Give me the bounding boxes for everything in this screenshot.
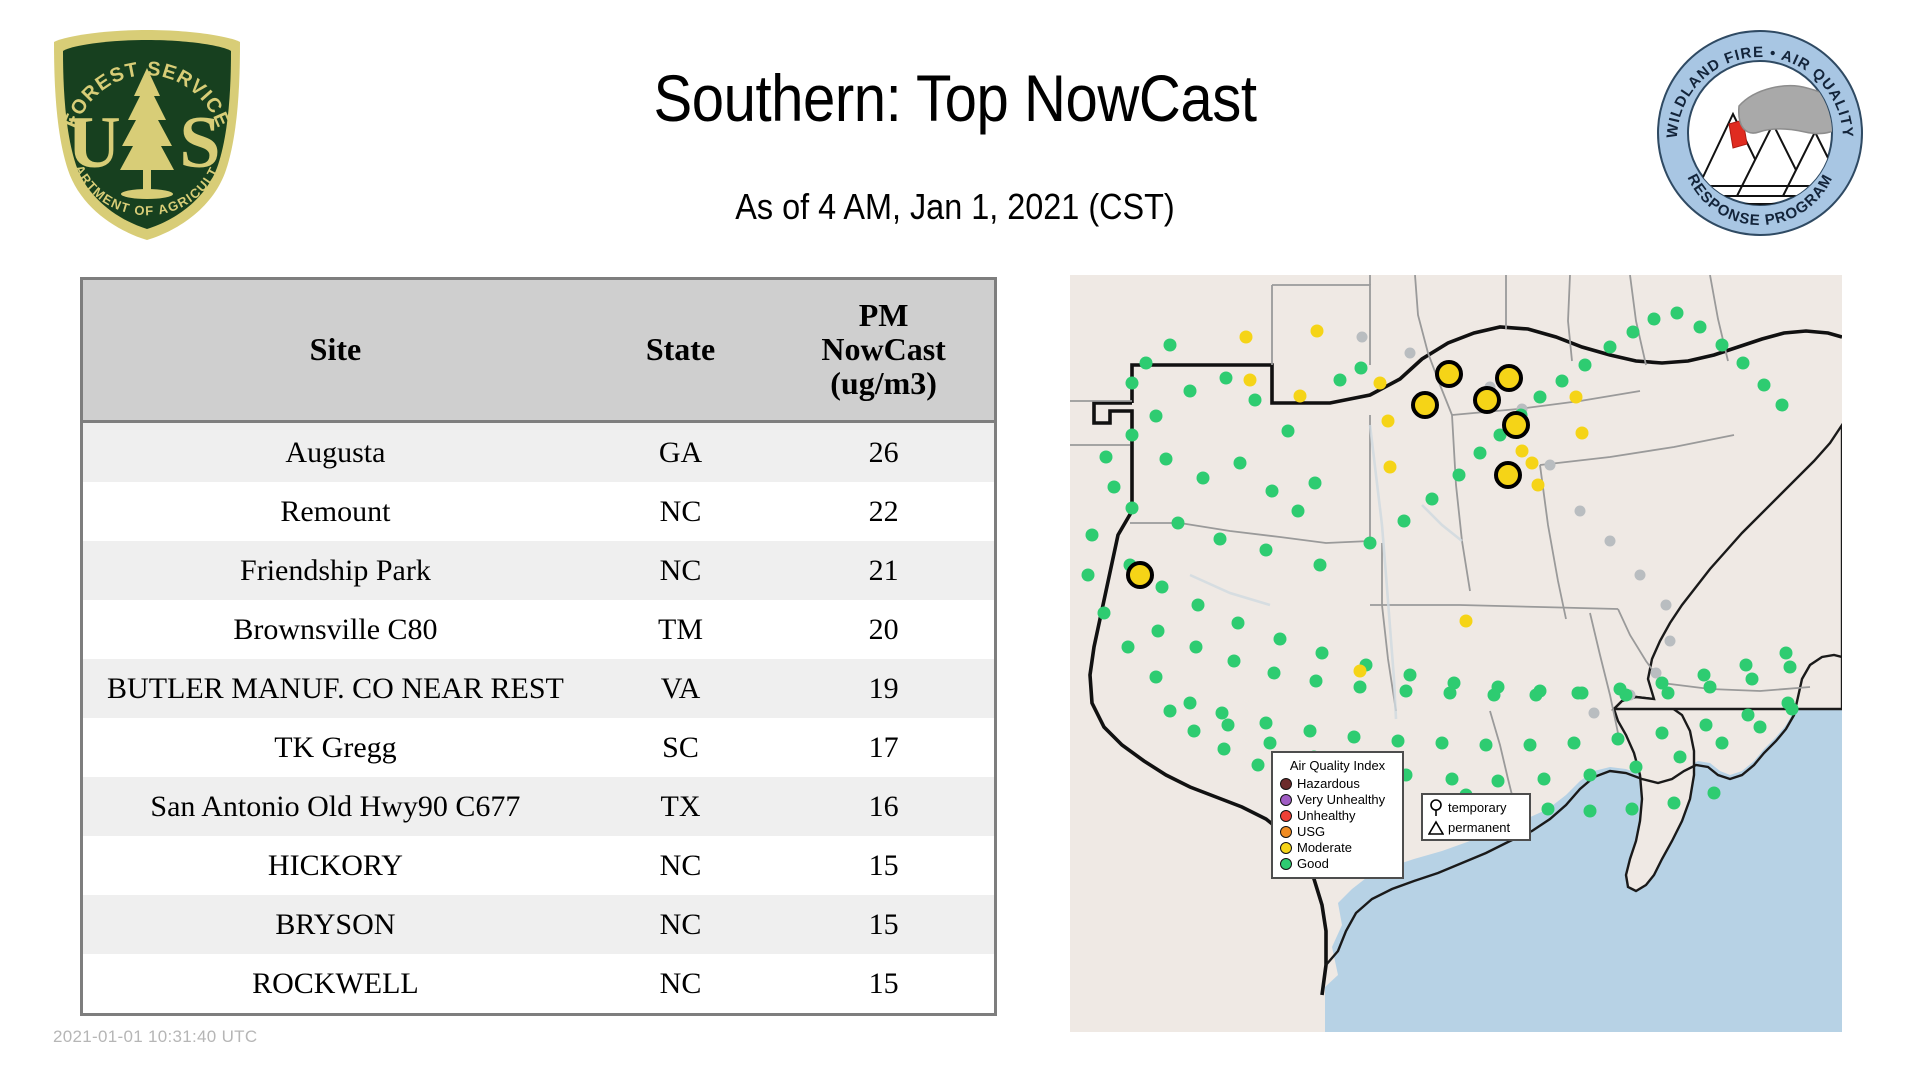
aqi-legend-row: USG [1280, 824, 1395, 840]
air-quality-map[interactable]: Air Quality Index HazardousVery Unhealth… [1070, 275, 1842, 1032]
good-aqi-marker[interactable] [1184, 385, 1197, 398]
monitor-type-legend: temporary permanent [1421, 793, 1531, 841]
good-aqi-marker[interactable] [1228, 655, 1241, 668]
good-aqi-marker[interactable] [1126, 502, 1139, 515]
offline-monitor-marker[interactable] [1651, 668, 1662, 679]
cell-pm-nowcast: 19 [773, 659, 994, 718]
good-aqi-marker[interactable] [1737, 357, 1750, 370]
top-site-marker[interactable] [1504, 413, 1528, 437]
good-aqi-marker[interactable] [1740, 659, 1753, 672]
cell-state: NC [588, 482, 773, 541]
cell-site: San Antonio Old Hwy90 C677 [83, 777, 588, 836]
good-aqi-marker[interactable] [1392, 735, 1405, 748]
table-row: TK GreggSC17 [83, 718, 994, 777]
good-aqi-marker[interactable] [1604, 341, 1617, 354]
good-aqi-marker[interactable] [1249, 394, 1262, 407]
cell-state: NC [588, 836, 773, 895]
good-aqi-marker[interactable] [1716, 339, 1729, 352]
good-aqi-marker[interactable] [1190, 641, 1203, 654]
table-row: AugustaGA26 [83, 422, 994, 483]
good-aqi-marker[interactable] [1220, 372, 1233, 385]
table-row: ROCKWELLNC15 [83, 954, 994, 1013]
good-aqi-marker[interactable] [1404, 669, 1417, 682]
good-aqi-marker[interactable] [1334, 374, 1347, 387]
aqi-legend-label: Very Unhealthy [1297, 792, 1385, 808]
good-aqi-marker[interactable] [1612, 733, 1625, 746]
offline-monitor-marker[interactable] [1545, 460, 1556, 471]
aqi-swatch-icon [1280, 858, 1292, 870]
good-aqi-marker[interactable] [1742, 709, 1755, 722]
aqi-swatch-icon [1280, 778, 1292, 790]
good-aqi-marker[interactable] [1626, 803, 1639, 816]
good-aqi-marker[interactable] [1700, 719, 1713, 732]
cell-pm-nowcast: 17 [773, 718, 994, 777]
good-aqi-marker[interactable] [1197, 472, 1210, 485]
cell-pm-nowcast: 16 [773, 777, 994, 836]
good-aqi-marker[interactable] [1216, 707, 1229, 720]
good-aqi-marker[interactable] [1122, 641, 1135, 654]
aqi-legend-row: Unhealthy [1280, 808, 1395, 824]
cell-pm-nowcast: 15 [773, 954, 994, 1013]
good-aqi-marker[interactable] [1126, 429, 1139, 442]
cell-pm-nowcast: 21 [773, 541, 994, 600]
good-aqi-marker[interactable] [1694, 321, 1707, 334]
good-aqi-marker[interactable] [1758, 379, 1771, 392]
good-aqi-marker[interactable] [1453, 469, 1466, 482]
good-aqi-marker[interactable] [1584, 769, 1597, 782]
good-aqi-marker[interactable] [1556, 375, 1569, 388]
top-site-marker[interactable] [1475, 388, 1499, 412]
cell-pm-nowcast: 20 [773, 600, 994, 659]
cell-site: Augusta [83, 422, 588, 483]
good-aqi-marker[interactable] [1746, 673, 1759, 686]
temporary-circle-icon [1428, 799, 1444, 817]
permanent-triangle-icon [1428, 820, 1444, 836]
aqi-legend-title: Air Quality Index [1280, 758, 1395, 773]
column-header-pm-nowcast: PM NowCast (ug/m3) [773, 280, 994, 422]
good-aqi-marker[interactable] [1568, 737, 1581, 750]
good-aqi-marker[interactable] [1309, 477, 1322, 490]
aqi-legend-label: Unhealthy [1297, 808, 1356, 824]
good-aqi-marker[interactable] [1668, 797, 1681, 810]
good-aqi-marker[interactable] [1776, 399, 1789, 412]
offline-monitor-marker[interactable] [1589, 708, 1600, 719]
table-row: BRYSONNC15 [83, 895, 994, 954]
good-aqi-marker[interactable] [1222, 719, 1235, 732]
good-aqi-marker[interactable] [1671, 307, 1684, 320]
good-aqi-marker[interactable] [1234, 457, 1247, 470]
cell-site: BRYSON [83, 895, 588, 954]
table-row: HICKORYNC15 [83, 836, 994, 895]
good-aqi-marker[interactable] [1446, 773, 1459, 786]
good-aqi-marker[interactable] [1492, 775, 1505, 788]
good-aqi-marker[interactable] [1260, 717, 1273, 730]
good-aqi-marker[interactable] [1140, 357, 1153, 370]
offline-monitor-marker[interactable] [1661, 600, 1672, 611]
page-subtitle: As of 4 AM, Jan 1, 2021 (CST) [330, 185, 1581, 229]
good-aqi-marker[interactable] [1214, 533, 1227, 546]
good-aqi-marker[interactable] [1252, 759, 1265, 772]
legend-permanent-label: permanent [1448, 818, 1510, 838]
offline-monitor-marker[interactable] [1605, 536, 1616, 547]
good-aqi-marker[interactable] [1656, 727, 1669, 740]
good-aqi-marker[interactable] [1698, 669, 1711, 682]
good-aqi-marker[interactable] [1579, 359, 1592, 372]
cell-pm-nowcast: 22 [773, 482, 994, 541]
cell-site: Remount [83, 482, 588, 541]
moderate-aqi-marker[interactable] [1382, 415, 1395, 428]
good-aqi-marker[interactable] [1530, 689, 1543, 702]
moderate-aqi-marker[interactable] [1244, 374, 1257, 387]
us-forest-service-logo: FOREST SERVICE U S DEPARTMENT OF AGRICUL… [48, 24, 246, 244]
good-aqi-marker[interactable] [1780, 647, 1793, 660]
moderate-aqi-marker[interactable] [1294, 390, 1307, 403]
good-aqi-marker[interactable] [1398, 515, 1411, 528]
aqi-legend-row: Hazardous [1280, 776, 1395, 792]
good-aqi-marker[interactable] [1156, 581, 1169, 594]
page-title: Southern: Top NowCast [343, 58, 1566, 138]
good-aqi-marker[interactable] [1172, 517, 1185, 530]
cell-pm-nowcast: 26 [773, 422, 994, 483]
good-aqi-marker[interactable] [1150, 671, 1163, 684]
aqi-swatch-icon [1280, 842, 1292, 854]
column-header-state: State [588, 280, 773, 422]
moderate-aqi-marker[interactable] [1354, 665, 1367, 678]
good-aqi-marker[interactable] [1426, 493, 1439, 506]
table-row: Brownsville C80TM20 [83, 600, 994, 659]
top-site-marker[interactable] [1497, 366, 1521, 390]
cell-state: TM [588, 600, 773, 659]
good-aqi-marker[interactable] [1316, 647, 1329, 660]
cell-site: HICKORY [83, 836, 588, 895]
good-aqi-marker[interactable] [1304, 725, 1317, 738]
good-aqi-marker[interactable] [1292, 505, 1305, 518]
moderate-aqi-marker[interactable] [1384, 461, 1397, 474]
column-header-site: Site [83, 280, 588, 422]
good-aqi-marker[interactable] [1786, 703, 1799, 716]
offline-monitor-marker[interactable] [1575, 506, 1586, 517]
good-aqi-marker[interactable] [1310, 675, 1323, 688]
good-aqi-marker[interactable] [1164, 705, 1177, 718]
good-aqi-marker[interactable] [1355, 362, 1368, 375]
good-aqi-marker[interactable] [1126, 377, 1139, 390]
good-aqi-marker[interactable] [1264, 737, 1277, 750]
good-aqi-marker[interactable] [1708, 787, 1721, 800]
good-aqi-marker[interactable] [1716, 737, 1729, 750]
good-aqi-marker[interactable] [1192, 599, 1205, 612]
cell-site: BUTLER MANUF. CO NEAR REST [83, 659, 588, 718]
good-aqi-marker[interactable] [1150, 410, 1163, 423]
cell-site: TK Gregg [83, 718, 588, 777]
good-aqi-marker[interactable] [1364, 537, 1377, 550]
top-site-marker[interactable] [1496, 463, 1520, 487]
aqi-legend: Air Quality Index HazardousVery Unhealth… [1271, 751, 1404, 879]
cell-site: Brownsville C80 [83, 600, 588, 659]
table-row: Friendship ParkNC21 [83, 541, 994, 600]
top-site-marker[interactable] [1437, 362, 1461, 386]
good-aqi-marker[interactable] [1704, 681, 1717, 694]
good-aqi-marker[interactable] [1218, 743, 1231, 756]
good-aqi-marker[interactable] [1108, 481, 1121, 494]
offline-monitor-marker[interactable] [1665, 636, 1676, 647]
aqi-legend-label: Hazardous [1297, 776, 1360, 792]
good-aqi-marker[interactable] [1098, 607, 1111, 620]
good-aqi-marker[interactable] [1784, 661, 1797, 674]
good-aqi-marker[interactable] [1614, 683, 1627, 696]
generated-timestamp: 2021-01-01 10:31:40 UTC [53, 1027, 257, 1047]
moderate-aqi-marker[interactable] [1576, 427, 1589, 440]
good-aqi-marker[interactable] [1188, 725, 1201, 738]
aqi-swatch-icon [1280, 794, 1292, 806]
moderate-aqi-marker[interactable] [1460, 615, 1473, 628]
cell-site: Friendship Park [83, 541, 588, 600]
aqi-legend-row: Good [1280, 856, 1395, 872]
good-aqi-marker[interactable] [1474, 447, 1487, 460]
good-aqi-marker[interactable] [1152, 625, 1165, 638]
table-row: San Antonio Old Hwy90 C677TX16 [83, 777, 994, 836]
good-aqi-marker[interactable] [1354, 681, 1367, 694]
good-aqi-marker[interactable] [1656, 677, 1669, 690]
aqi-legend-label: Moderate [1297, 840, 1352, 856]
good-aqi-marker[interactable] [1630, 761, 1643, 774]
table-row: RemountNC22 [83, 482, 994, 541]
good-aqi-marker[interactable] [1266, 485, 1279, 498]
cell-state: NC [588, 895, 773, 954]
legend-temporary: temporary [1428, 798, 1525, 818]
top-site-marker[interactable] [1413, 393, 1437, 417]
cell-state: NC [588, 954, 773, 1013]
aqi-legend-label: Good [1297, 856, 1329, 872]
good-aqi-marker[interactable] [1268, 667, 1281, 680]
top-site-marker[interactable] [1128, 563, 1152, 587]
legend-temporary-label: temporary [1448, 798, 1507, 818]
good-aqi-marker[interactable] [1400, 685, 1413, 698]
table-row: BUTLER MANUF. CO NEAR RESTVA19 [83, 659, 994, 718]
good-aqi-marker[interactable] [1444, 687, 1457, 700]
good-aqi-marker[interactable] [1160, 453, 1173, 466]
moderate-aqi-marker[interactable] [1526, 457, 1539, 470]
good-aqi-marker[interactable] [1542, 803, 1555, 816]
cell-state: GA [588, 422, 773, 483]
good-aqi-marker[interactable] [1480, 739, 1493, 752]
moderate-aqi-marker[interactable] [1240, 331, 1253, 344]
good-aqi-marker[interactable] [1524, 739, 1537, 752]
cell-pm-nowcast: 15 [773, 895, 994, 954]
good-aqi-marker[interactable] [1488, 689, 1501, 702]
good-aqi-marker[interactable] [1436, 737, 1449, 750]
good-aqi-marker[interactable] [1282, 425, 1295, 438]
legend-permanent: permanent [1428, 818, 1525, 838]
good-aqi-marker[interactable] [1674, 751, 1687, 764]
offline-monitor-marker[interactable] [1405, 348, 1416, 359]
good-aqi-marker[interactable] [1184, 697, 1197, 710]
good-aqi-marker[interactable] [1648, 313, 1661, 326]
wildland-fire-air-quality-logo: WILDLAND FIRE • AIR QUALITY RESPONSE PRO… [1655, 28, 1865, 238]
good-aqi-marker[interactable] [1086, 529, 1099, 542]
cell-state: NC [588, 541, 773, 600]
good-aqi-marker[interactable] [1232, 617, 1245, 630]
good-aqi-marker[interactable] [1164, 339, 1177, 352]
cell-state: TX [588, 777, 773, 836]
good-aqi-marker[interactable] [1584, 805, 1597, 818]
aqi-legend-row: Very Unhealthy [1280, 792, 1395, 808]
moderate-aqi-marker[interactable] [1570, 391, 1583, 404]
cell-pm-nowcast: 15 [773, 836, 994, 895]
table-header-row: Site State PM NowCast (ug/m3) [83, 280, 994, 422]
cell-state: VA [588, 659, 773, 718]
aqi-swatch-icon [1280, 826, 1292, 838]
aqi-legend-label: USG [1297, 824, 1325, 840]
offline-monitor-marker[interactable] [1357, 332, 1368, 343]
good-aqi-marker[interactable] [1100, 451, 1113, 464]
aqi-legend-row: Moderate [1280, 840, 1395, 856]
moderate-aqi-marker[interactable] [1311, 325, 1324, 338]
good-aqi-marker[interactable] [1627, 326, 1640, 339]
good-aqi-marker[interactable] [1572, 687, 1585, 700]
good-aqi-marker[interactable] [1348, 731, 1361, 744]
moderate-aqi-marker[interactable] [1374, 377, 1387, 390]
good-aqi-marker[interactable] [1260, 544, 1273, 557]
cell-site: ROCKWELL [83, 954, 588, 1013]
offline-monitor-marker[interactable] [1635, 570, 1646, 581]
good-aqi-marker[interactable] [1274, 633, 1287, 646]
cell-state: SC [588, 718, 773, 777]
good-aqi-marker[interactable] [1534, 391, 1547, 404]
good-aqi-marker[interactable] [1314, 559, 1327, 572]
moderate-aqi-marker[interactable] [1532, 479, 1545, 492]
good-aqi-marker[interactable] [1754, 721, 1767, 734]
top-nowcast-table: Site State PM NowCast (ug/m3) AugustaGA2… [80, 277, 997, 1016]
good-aqi-marker[interactable] [1082, 569, 1095, 582]
moderate-aqi-marker[interactable] [1516, 445, 1529, 458]
good-aqi-marker[interactable] [1538, 773, 1551, 786]
aqi-swatch-icon [1280, 810, 1292, 822]
